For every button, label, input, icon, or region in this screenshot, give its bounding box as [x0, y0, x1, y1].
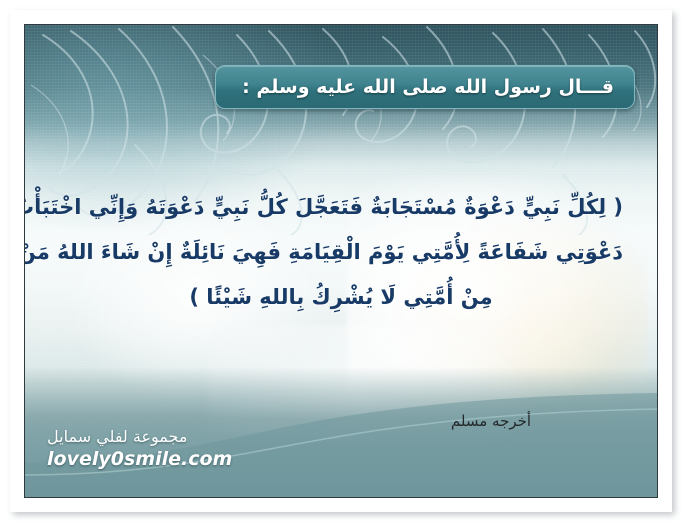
hadith-header-text: قـــال رسول الله صلى الله عليه وسلم : — [242, 76, 614, 98]
hadith-line-1: ( لِكُلِّ نَبِيٍّ دَعْوَةٌ مُسْتَجَابَةٌ… — [59, 185, 623, 230]
branding-website-url: lovely0smile.com — [47, 447, 232, 471]
branding-arabic-name: مجموعة لفلي سمايل — [47, 427, 232, 447]
card-artwork-area: قـــال رسول الله صلى الله عليه وسلم : ( … — [24, 24, 658, 498]
hadith-line-2: دَعْوَتِي شَفَاعَةً لِأُمَّتِي يَوْمَ ال… — [59, 230, 623, 275]
hadith-line-3: مِنْ أُمَّتِي لَا يُشْرِكُ بِاللهِ شَيْئ… — [59, 275, 623, 320]
hadith-header-banner: قـــال رسول الله صلى الله عليه وسلم : — [215, 65, 635, 109]
hadith-card-frame: قـــال رسول الله صلى الله عليه وسلم : ( … — [10, 10, 672, 512]
attribution-source: أخرجه مسلم — [451, 412, 531, 430]
hadith-text-block: ( لِكُلِّ نَبِيٍّ دَعْوَةٌ مُسْتَجَابَةٌ… — [59, 185, 623, 320]
